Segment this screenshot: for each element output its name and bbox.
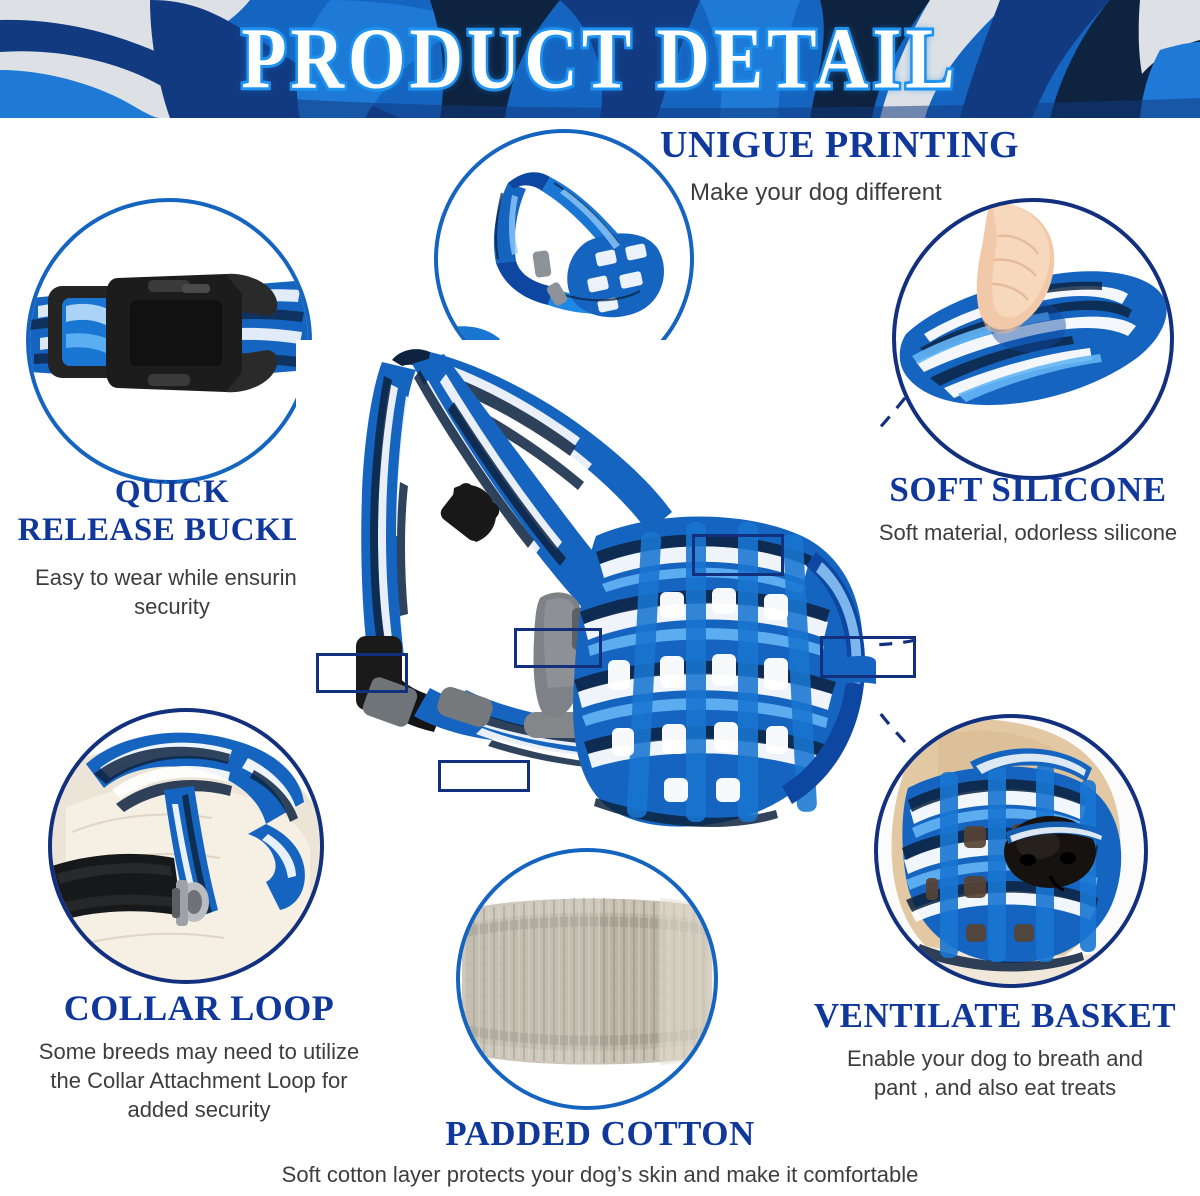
photo-quick-release-buckle bbox=[30, 202, 308, 480]
photo-soft-silicone bbox=[896, 202, 1170, 476]
subtitle-soft-silicone: Soft material, odorless silicone bbox=[856, 518, 1200, 547]
text-padded-cotton: PADDED COTTON Soft cotton layer protects… bbox=[180, 1116, 1020, 1189]
title-unique-printing: UNIGUE PRINTING bbox=[660, 126, 1080, 165]
title-soft-silicone: SOFT SILICONE bbox=[856, 472, 1200, 508]
title-ventilate-basket: VENTILATE BASKET bbox=[790, 998, 1200, 1034]
text-unique-printing: UNIGUE PRINTING Make your dog different bbox=[660, 126, 1080, 208]
title-quick-release-buckle-line1: QUICK bbox=[0, 476, 344, 510]
subtitle-ventilate-basket-line1: Enable your dog to breath and bbox=[790, 1044, 1200, 1073]
finger-press-silicone-illustration bbox=[896, 202, 1170, 476]
text-quick-release-buckle: QUICK RELEASE BUCKLE Easy to wear while … bbox=[0, 476, 344, 621]
subtitle-quick-release-buckle-line2: security bbox=[0, 592, 344, 621]
highlight-buckle bbox=[316, 653, 408, 693]
center-product-photo bbox=[296, 340, 876, 880]
title-padded-cotton: PADDED COTTON bbox=[180, 1116, 1020, 1152]
highlight-cotton-strap bbox=[438, 760, 530, 792]
text-soft-silicone: SOFT SILICONE Soft material, odorless si… bbox=[856, 472, 1200, 547]
subtitle-collar-loop-line1: Some breeds may need to utilize bbox=[0, 1037, 398, 1066]
subtitle-quick-release-buckle-line1: Easy to wear while ensuring bbox=[0, 563, 344, 592]
title-quick-release-buckle-line2: RELEASE BUCKLE bbox=[0, 514, 344, 548]
dog-wearing-muzzle-illustration bbox=[878, 718, 1144, 984]
center-muzzle-illustration bbox=[296, 340, 876, 880]
subtitle-ventilate-basket-line2: pant , and also eat treats bbox=[790, 1073, 1200, 1102]
header-banner: PRODUCT DETAIL bbox=[0, 0, 1200, 118]
highlight-padded-cotton bbox=[514, 628, 602, 668]
photo-collar-loop bbox=[52, 712, 320, 980]
highlight-soft-silicone bbox=[692, 534, 784, 576]
buckle-illustration bbox=[30, 202, 308, 480]
page-title: PRODUCT DETAIL bbox=[0, 0, 1200, 118]
padded-cotton-illustration bbox=[460, 852, 714, 1106]
subtitle-padded-cotton: Soft cotton layer protects your dog’s sk… bbox=[180, 1160, 1020, 1189]
text-collar-loop: COLLAR LOOP Some breeds may need to util… bbox=[0, 990, 398, 1124]
title-collar-loop: COLLAR LOOP bbox=[0, 990, 398, 1027]
text-ventilate-basket: VENTILATE BASKET Enable your dog to brea… bbox=[790, 998, 1200, 1102]
photo-padded-cotton bbox=[460, 852, 714, 1106]
photo-ventilate-basket bbox=[878, 718, 1144, 984]
highlight-ventilate-basket bbox=[820, 636, 916, 678]
collar-loop-illustration bbox=[52, 712, 320, 980]
subtitle-collar-loop-line2: the Collar Attachment Loop for bbox=[0, 1066, 398, 1095]
